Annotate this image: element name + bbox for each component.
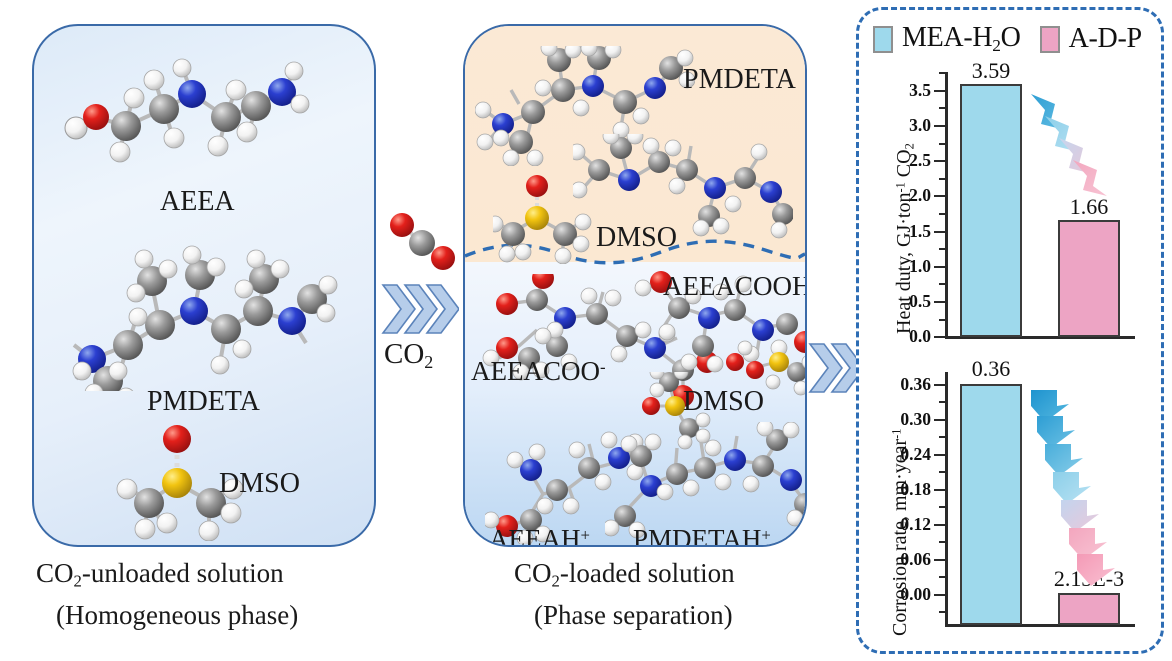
label-aeeacooh: AEEACOOH (663, 271, 807, 302)
corrosion-tick-0.00 (934, 594, 946, 596)
chart-heat-duty: Heat duty, GJ·ton-1 CO2 3.5 3.0 2.5 2.0 … (859, 62, 1167, 348)
corrosion-tick-0.12 (934, 524, 946, 526)
heat-duty-tick-2.5 (934, 160, 946, 162)
legend-label-mea-h2o: MEA-H2O (902, 24, 1021, 54)
heat-duty-minor-tick (939, 319, 946, 321)
corrosion-tick-0.36 (934, 384, 946, 386)
bar-corrosion-mea-h2o[interactable] (960, 384, 1022, 625)
corrosion-minor-tick (939, 471, 946, 473)
heat-duty-tick-1.0 (934, 266, 946, 268)
co2-loaded-solution-panel: PMDETA DMSO (463, 24, 807, 547)
bar-value-corrosion-mea-h2o: 0.36 (955, 356, 1027, 382)
heat-duty-minor-tick (939, 283, 946, 285)
corrosion-tick-0.06 (934, 559, 946, 561)
corrosion-tick-0.24 (934, 454, 946, 456)
left-panel-caption-line2: (Homogeneous phase) (56, 600, 298, 631)
heat-duty-ticklabel-2.0: 2.0 (885, 185, 931, 206)
heat-duty-ticklabel-3.5: 3.5 (885, 80, 931, 101)
co2-molecule (386, 213, 458, 275)
heat-duty-ticklabel-0.5: 0.5 (885, 291, 931, 312)
results-chart-panel: MEA-H2O A-D-P Heat duty, GJ·ton-1 CO2 3.… (856, 7, 1164, 654)
corrosion-ticklabel-0.06: 0.06 (877, 549, 931, 570)
heat-duty-ticklabel-1.0: 1.0 (885, 256, 931, 277)
co2-unloaded-solution-panel: AEEA PMDETA (32, 24, 376, 547)
corrosion-trend-arrows (1027, 388, 1119, 588)
label-aeeacoo-anion: AEEACOO- (471, 356, 606, 387)
corrosion-minor-tick (939, 541, 946, 543)
heat-duty-tick-3.5 (934, 90, 946, 92)
heat-duty-trend-arrows (1025, 90, 1111, 200)
bar-value-heat-duty-mea-h2o: 3.59 (955, 58, 1027, 84)
chart-legend: MEA-H2O A-D-P (873, 21, 1155, 57)
corrosion-ticklabel-0.12: 0.12 (877, 514, 931, 535)
left-panel-caption-line1: CO2-unloaded solution (36, 558, 284, 592)
heat-duty-minor-tick (939, 143, 946, 145)
heat-duty-y-axis (945, 72, 948, 338)
corrosion-tick-0.30 (934, 419, 946, 421)
heat-duty-minor-tick (939, 248, 946, 250)
heat-duty-minor-tick (939, 72, 946, 74)
bar-heat-duty-a-d-p[interactable] (1058, 220, 1120, 337)
legend-label-a-d-p: A-D-P (1069, 25, 1142, 53)
corrosion-y-axis (945, 372, 948, 626)
label-pmdeta-upper: PMDETA (683, 64, 796, 96)
label-aeeah-cation: AEEAH+ (489, 524, 590, 547)
molecule-aeea (44, 54, 354, 184)
heat-duty-tick-3.0 (934, 125, 946, 127)
heat-duty-minor-tick (939, 213, 946, 215)
corrosion-ticklabel-0.18: 0.18 (877, 479, 931, 500)
bar-heat-duty-mea-h2o[interactable] (960, 84, 1022, 337)
molecule-dmso-lower-2 (723, 338, 807, 408)
heat-duty-tick-0.5 (934, 301, 946, 303)
corrosion-ticklabel-0.30: 0.30 (877, 409, 931, 430)
chart-corrosion-rate: Corrosion rate, mm·year-1 0.36 0.30 0.24… (859, 350, 1167, 650)
corrosion-minor-tick (939, 436, 946, 438)
heat-duty-ticklabel-1.5: 1.5 (885, 221, 931, 242)
corrosion-minor-tick (939, 401, 946, 403)
corrosion-minor-tick (939, 506, 946, 508)
legend-swatch-a-d-p (1040, 26, 1060, 53)
molecule-label-pmdeta: PMDETA (147, 386, 260, 418)
co2-inflow-chevrons (381, 281, 459, 337)
label-dmso-upper: DMSO (596, 222, 677, 254)
heat-duty-ticklabel-3.0: 3.0 (885, 115, 931, 136)
corrosion-ticklabel-0.36: 0.36 (877, 374, 931, 395)
heat-duty-minor-tick (939, 178, 946, 180)
label-pmdetah-cation: PMDETAH+ (633, 524, 771, 547)
corrosion-minor-tick (939, 611, 946, 613)
co2-arrow-label: CO2 (384, 338, 433, 373)
corrosion-minor-tick (939, 576, 946, 578)
bar-corrosion-a-d-p[interactable] (1058, 593, 1120, 625)
corrosion-tick-0.18 (934, 489, 946, 491)
middle-panel-caption-line2: (Phase separation) (534, 600, 733, 631)
corrosion-ticklabel-0.24: 0.24 (877, 444, 931, 465)
heat-duty-minor-tick (939, 107, 946, 109)
legend-swatch-mea-h2o (873, 26, 893, 53)
molecule-label-dmso: DMSO (219, 468, 300, 500)
molecule-pmdeta (48, 241, 348, 391)
heat-duty-tick-2.0 (934, 195, 946, 197)
molecule-label-aeea: AEEA (160, 186, 235, 218)
heat-duty-ticklabel-0.0: 0.0 (885, 326, 931, 347)
middle-panel-caption-line1: CO2-loaded solution (514, 558, 735, 592)
heat-duty-tick-0.0 (934, 336, 946, 338)
corrosion-ticklabel-0.00: 0.00 (877, 584, 931, 605)
heat-duty-ticklabel-2.5: 2.5 (885, 150, 931, 171)
heat-duty-tick-1.5 (934, 231, 946, 233)
